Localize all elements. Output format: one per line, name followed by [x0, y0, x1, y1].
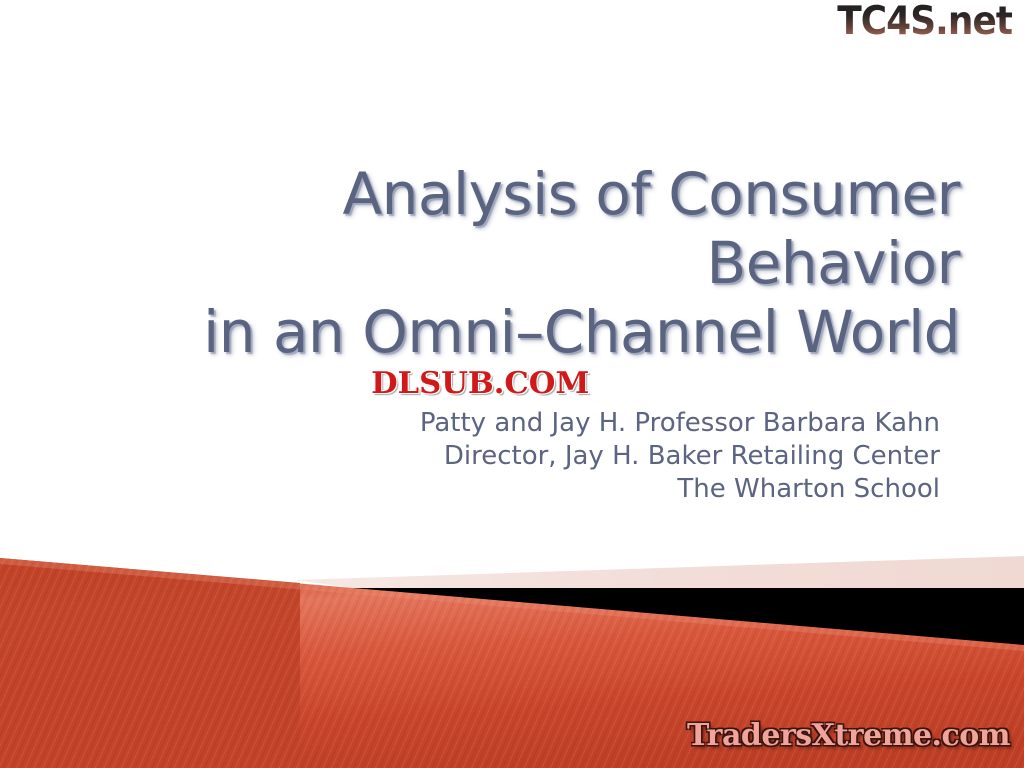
slide-subtitle: Patty and Jay H. Professor Barbara Kahn …	[64, 407, 940, 506]
title-line-1: Analysis of Consumer	[64, 160, 960, 229]
tc4s-site-logo: TC4S.net	[837, 2, 1012, 41]
dlsub-watermark: DLSUB.COM	[367, 366, 593, 403]
black-wedge	[352, 588, 1024, 648]
tradersxtreme-watermark: TradersXtreme.com	[687, 718, 1010, 754]
slide-title: Analysis of Consumer Behavior in an Omni…	[64, 160, 960, 367]
orange-wedge-highlight	[0, 558, 1024, 651]
subtitle-line-institution: The Wharton School	[64, 473, 940, 506]
subtitle-line-presenter: Patty and Jay H. Professor Barbara Kahn	[64, 407, 940, 440]
presentation-slide: TC4S.net Analysis of Consumer Behavior i…	[0, 0, 1024, 768]
title-line-3: in an Omni–Channel World	[64, 298, 960, 367]
subtitle-line-role: Director, Jay H. Baker Retailing Center	[64, 440, 940, 473]
pink-wedge	[296, 556, 1024, 588]
orange-wedge-left-shade	[0, 558, 300, 768]
title-line-2: Behavior	[64, 229, 960, 298]
